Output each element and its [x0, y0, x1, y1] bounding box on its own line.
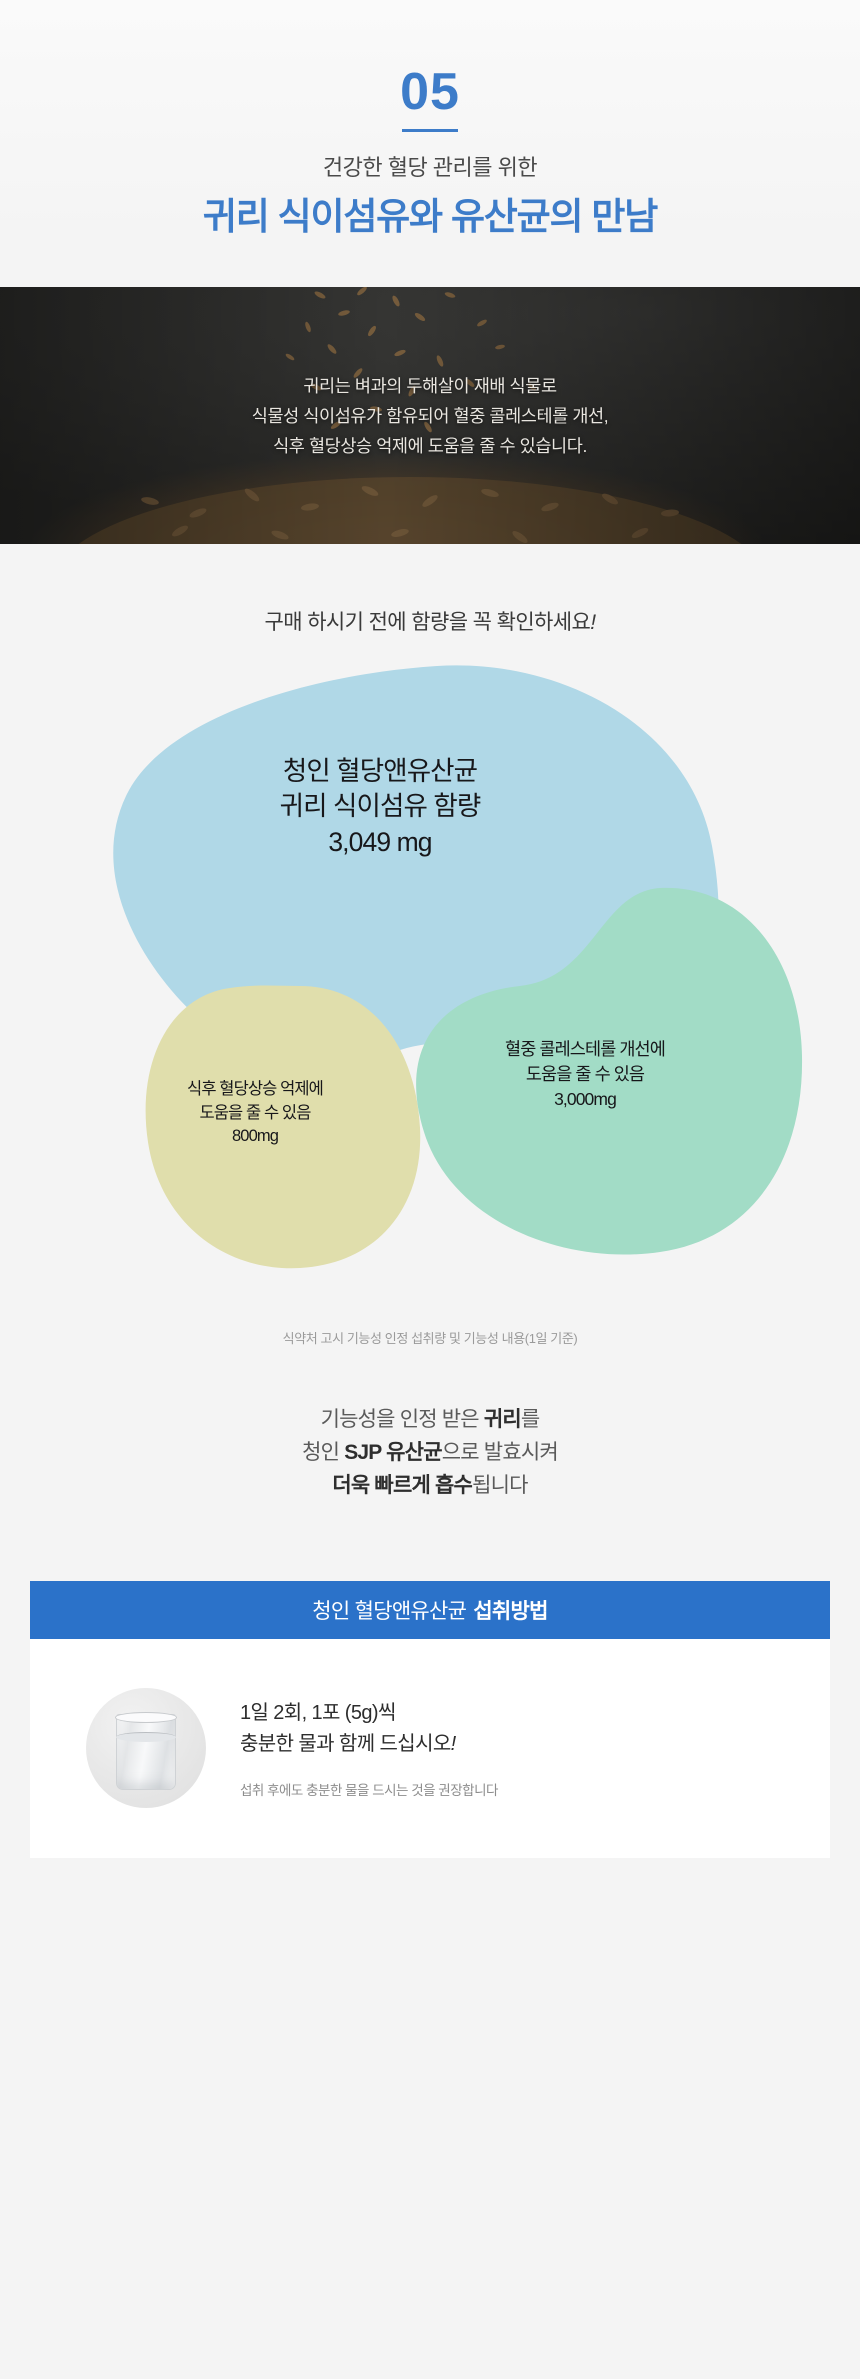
- fermentation-line1-bold: 귀리: [484, 1408, 521, 1431]
- venn-label-glucose-line2: 도움을 줄 수 있음: [120, 1102, 390, 1125]
- fermentation-line3-b: 됩니다: [472, 1474, 528, 1497]
- glass-water-line: [116, 1732, 176, 1742]
- dose-line-2-exclamation: !: [451, 1733, 456, 1755]
- venn-label-cholesterol-line2: 도움을 줄 수 있음: [430, 1062, 740, 1087]
- venn-label-product-value: 3,049 mg: [180, 825, 580, 860]
- fermentation-line2-bold: SJP 유산균: [344, 1441, 442, 1464]
- purchase-note-exclamation: !: [590, 611, 595, 634]
- purchase-note-text: 구매 하시기 전에 함량을 꼭 확인하세요: [265, 611, 591, 634]
- water-glass-icon: [86, 1688, 206, 1808]
- hero-line-3: 식후 혈당상승 억제에 도움을 줄 수 있습니다.: [0, 431, 860, 461]
- fermentation-line-3: 더욱 빠르게 흡수됩니다: [0, 1470, 860, 1503]
- fiber-content-venn-diagram: 청인 혈당앤유산균 귀리 식이섬유 함량 3,049 mg 식후 혈당상승 억제…: [0, 656, 860, 1296]
- venn-blobs: [0, 656, 860, 1296]
- purchase-note: 구매 하시기 전에 함량을 꼭 확인하세요!: [0, 606, 860, 636]
- fermentation-line2-c: 으로 발효시켜: [442, 1441, 558, 1464]
- fermentation-line1-a: 기능성을 인정 받은: [321, 1408, 484, 1431]
- venn-label-product: 청인 혈당앤유산균 귀리 식이섬유 함량 3,049 mg: [180, 754, 580, 860]
- venn-label-glucose-value: 800mg: [120, 1125, 390, 1148]
- fermentation-line3-bold: 더욱 빠르게 흡수: [332, 1474, 472, 1497]
- fermentation-line-2: 청인 SJP 유산균으로 발효시켜: [0, 1437, 860, 1470]
- dose-line-2-text: 충분한 물과 함께 드십시오: [240, 1733, 451, 1755]
- venn-label-cholesterol: 혈중 콜레스테롤 개선에 도움을 줄 수 있음 3,000mg: [430, 1037, 740, 1112]
- glass-rim: [115, 1712, 177, 1723]
- dose-line-2: 충분한 물과 함께 드십시오!: [240, 1729, 498, 1760]
- section-number-underline: [402, 129, 458, 132]
- intake-instructions: 1일 2회, 1포 (5g)씩 충분한 물과 함께 드십시오! 섭취 후에도 충…: [240, 1698, 498, 1799]
- fermentation-paragraph: 기능성을 인정 받은 귀리를 청인 SJP 유산균으로 발효시켜 더욱 빠르게 …: [0, 1404, 860, 1502]
- venn-label-glucose: 식후 혈당상승 억제에 도움을 줄 수 있음 800mg: [120, 1078, 390, 1148]
- fermentation-line1-c: 를: [521, 1408, 540, 1431]
- intake-banner-bold: 섭취방법: [473, 1595, 547, 1625]
- intake-method-card: 1일 2회, 1포 (5g)씩 충분한 물과 함께 드십시오! 섭취 후에도 충…: [30, 1639, 830, 1858]
- venn-caption: 식약처 고시 기능성 인정 섭취량 및 기능성 내용(1일 기준): [0, 1328, 860, 1347]
- venn-label-product-line1: 청인 혈당앤유산균: [180, 754, 580, 789]
- hero-line-1: 귀리는 벼과의 두해살이 재배 식물로: [0, 371, 860, 401]
- hero-image-oats: 귀리는 벼과의 두해살이 재배 식물로 식물성 식이섬유가 함유되어 혈중 콜레…: [0, 287, 860, 544]
- glass-body: [116, 1714, 176, 1790]
- venn-label-glucose-line1: 식후 혈당상승 억제에: [120, 1078, 390, 1101]
- fermentation-line2-a: 청인: [302, 1441, 344, 1464]
- section-subtitle: 건강한 혈당 관리를 위한: [0, 150, 860, 182]
- dose-line-1: 1일 2회, 1포 (5g)씩: [240, 1698, 498, 1729]
- fermentation-line-1: 기능성을 인정 받은 귀리를: [0, 1404, 860, 1437]
- dose-note: 섭취 후에도 충분한 물을 드시는 것을 권장합니다: [240, 1779, 498, 1799]
- venn-label-cholesterol-line1: 혈중 콜레스테롤 개선에: [430, 1037, 740, 1062]
- intake-banner-normal: 청인 혈당앤유산균: [312, 1595, 466, 1625]
- section-number: 05: [400, 66, 460, 118]
- page-header: 05 건강한 혈당 관리를 위한 귀리 식이섬유와 유산균의 만남: [0, 0, 860, 240]
- hero-line-2: 식물성 식이섬유가 함유되어 혈중 콜레스테롤 개선,: [0, 401, 860, 431]
- venn-label-product-line2: 귀리 식이섬유 함량: [180, 789, 580, 824]
- hero-description: 귀리는 벼과의 두해살이 재배 식물로 식물성 식이섬유가 함유되어 혈중 콜레…: [0, 371, 860, 461]
- venn-label-cholesterol-value: 3,000mg: [430, 1087, 740, 1112]
- page-title: 귀리 식이섬유와 유산균의 만남: [0, 194, 860, 240]
- intake-method-banner: 청인 혈당앤유산균 섭취방법: [30, 1581, 830, 1639]
